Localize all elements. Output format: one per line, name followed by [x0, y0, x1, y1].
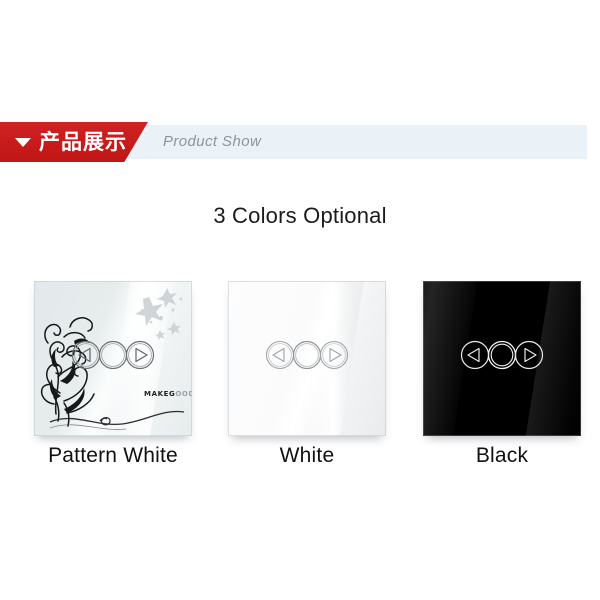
- switch-panel-white[interactable]: [228, 281, 386, 436]
- banner-tab: 产品展示: [0, 122, 148, 162]
- svg-text:MAKEGOOD: MAKEGOOD: [144, 390, 192, 398]
- product-item-pattern-white[interactable]: MAKEGOOD: [34, 281, 194, 436]
- section-banner: 产品展示 Product Show: [0, 122, 600, 162]
- switch-panel-pattern-white[interactable]: MAKEGOOD: [34, 281, 192, 436]
- product-gallery: MAKEGOOD: [0, 281, 600, 481]
- product-label: White: [228, 444, 386, 468]
- page-title: 3 Colors Optional: [0, 203, 600, 229]
- next-triangle-icon[interactable]: [122, 337, 158, 373]
- banner-title-cn: 产品展示: [39, 132, 127, 153]
- switch-panel-black[interactable]: [423, 281, 581, 436]
- product-item-white[interactable]: White: [228, 281, 388, 436]
- next-triangle-icon[interactable]: [511, 337, 547, 373]
- banner-title-en: Product Show: [163, 133, 261, 150]
- next-triangle-icon[interactable]: [316, 337, 352, 373]
- touch-key-row: [34, 337, 192, 377]
- product-item-black[interactable]: Black: [423, 281, 583, 436]
- touch-key-row: [423, 337, 581, 377]
- touch-key-row: [228, 337, 386, 377]
- product-label: Black: [423, 444, 581, 468]
- chevron-down-icon: [15, 138, 31, 147]
- product-label: Pattern White: [34, 444, 192, 468]
